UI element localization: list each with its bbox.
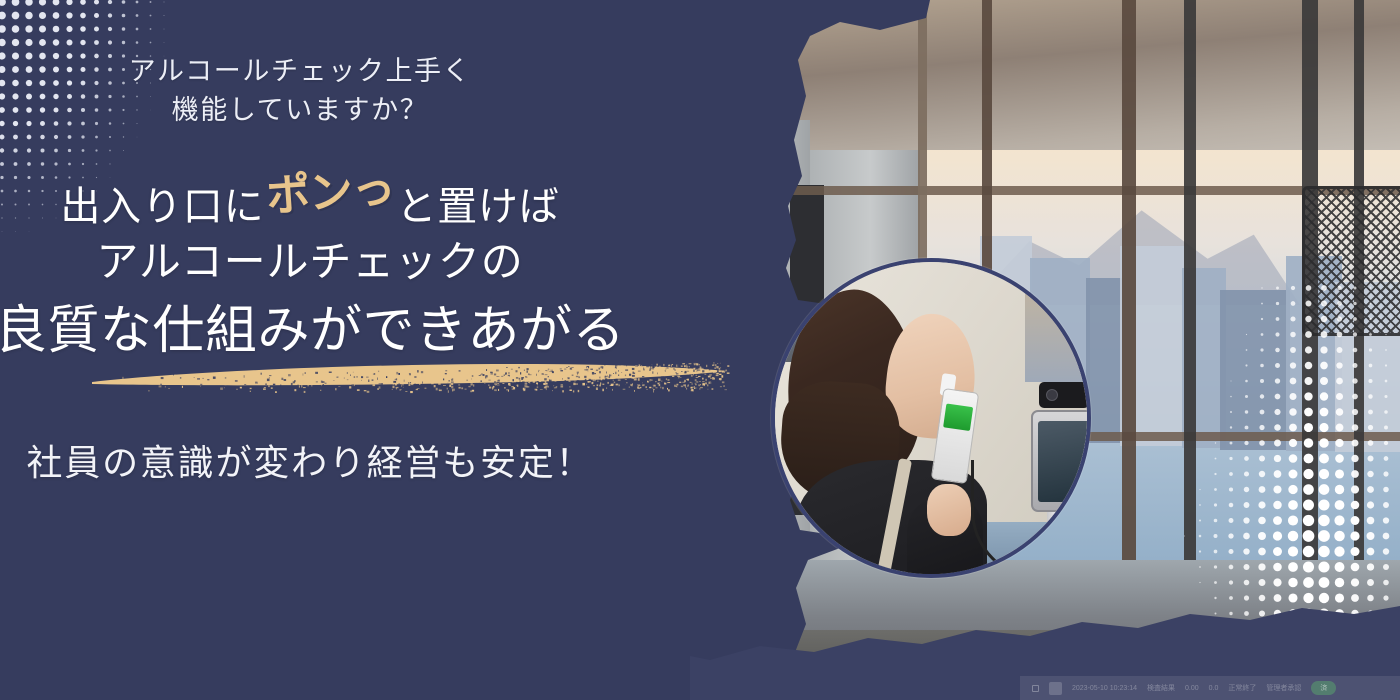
headline-block: アルコールチェック上手く 機能していますか？ 出入り口に ポンっ と置けば アル… xyxy=(0,0,700,700)
banner-canvas: アルコールチェック上手く 機能していますか？ 出入り口に ポンっ と置けば アル… xyxy=(0,0,1400,700)
camera-icon xyxy=(1046,389,1058,401)
background-table-row: 2023-05-10 10:23:14 検査結果 0.00 0.0 正常終了 管… xyxy=(1020,676,1400,700)
row-cell: 0.00 xyxy=(1185,685,1199,692)
inset-circle-photo xyxy=(771,258,1091,578)
row-cell: 0.0 xyxy=(1209,685,1219,692)
row-checkbox[interactable] xyxy=(1032,685,1039,692)
headline-line-2: アルコールチェックの xyxy=(0,228,660,289)
headline-suffix: と置けば xyxy=(396,174,559,232)
lead-copy-line-1: アルコールチェック上手く xyxy=(0,52,650,91)
row-status-badge: 済 xyxy=(1311,681,1336,695)
row-cell: 検査結果 xyxy=(1147,683,1175,693)
inset-tablet-terminal xyxy=(1031,410,1091,512)
inset-right-window xyxy=(1025,262,1091,382)
inset-tablet-screen xyxy=(1038,421,1091,502)
inset-breathalyzer-screen xyxy=(943,403,973,431)
headline-prefix: 出入り口に xyxy=(60,174,264,232)
row-cell: 管理者承認 xyxy=(1266,683,1301,693)
row-thumbnail xyxy=(1049,682,1062,695)
inset-terminal-stand xyxy=(1047,510,1073,578)
gold-brush-underline xyxy=(90,356,730,398)
lead-copy: アルコールチェック上手く 機能していますか？ xyxy=(0,52,650,130)
lead-copy-line-2: 機能していますか？ xyxy=(0,91,650,130)
inset-camera-module xyxy=(1039,382,1089,408)
headline-line-3: 良質な仕組みができあがる xyxy=(0,288,660,363)
headline-accent-word: ポンっ xyxy=(264,152,396,225)
inset-person-hand xyxy=(927,484,971,536)
headline-line-1: 出入り口に ポンっ と置けば xyxy=(0,168,660,232)
row-cell: 2023-05-10 10:23:14 xyxy=(1072,685,1137,692)
row-cell: 正常終了 xyxy=(1228,683,1256,693)
tagline: 社員の意識が変わり経営も安定！ xyxy=(0,434,660,486)
